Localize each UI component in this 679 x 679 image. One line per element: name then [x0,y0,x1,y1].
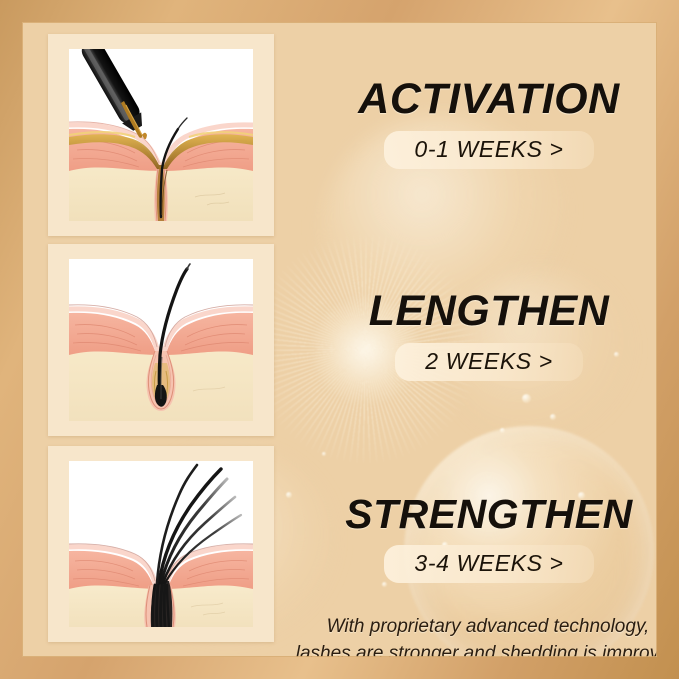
footer-caption: With proprietary advanced technology, la… [284,614,657,657]
stage-badge-1[interactable]: 0-1 WEEKS > [384,131,593,169]
bokeh-droplet [322,452,326,456]
stage-badge-3[interactable]: 3-4 WEEKS > [384,545,593,583]
stage-title-2: LENGTHEN [294,290,657,334]
stage-text-2: LENGTHEN 2 WEEKS > [294,290,657,381]
stage-image-3 [69,461,253,627]
caption-line-1: With proprietary advanced technology, [284,614,657,641]
serum-applicator-on-follicle-illustration [69,49,253,221]
stage-image-frame-2 [48,244,274,436]
stage-text-3: STRENGTHEN 3-4 WEEKS > [294,494,657,583]
stage-badge-wrap-1: 0-1 WEEKS > [294,131,657,169]
stage-badge-wrap-2: 2 WEEKS > [294,343,657,381]
stage-image-1 [69,49,253,221]
bokeh-droplet [500,428,505,433]
stage-title-3: STRENGTHEN [294,494,657,536]
bokeh-droplet [550,414,556,420]
stage-badge-2[interactable]: 2 WEEKS > [395,343,582,381]
stage-image-2 [69,259,253,421]
stage-title-1: ACTIVATION [294,78,657,122]
stage-image-frame-1 [48,34,274,236]
caption-line-2: lashes are stronger and shedding is impr… [284,641,657,657]
stage-text-1: ACTIVATION 0-1 WEEKS > [294,78,657,169]
content-plate: ACTIVATION 0-1 WEEKS > LENGTHEN 2 WEEKS … [22,22,657,657]
bokeh-droplet [286,492,292,498]
poster-root: ACTIVATION 0-1 WEEKS > LENGTHEN 2 WEEKS … [0,0,679,679]
multiple-thick-lashes-illustration [69,461,253,627]
stage-image-frame-3 [48,446,274,642]
single-lash-growing-illustration [69,259,253,421]
stage-badge-wrap-3: 3-4 WEEKS > [294,545,657,583]
bokeh-droplet [522,394,531,403]
